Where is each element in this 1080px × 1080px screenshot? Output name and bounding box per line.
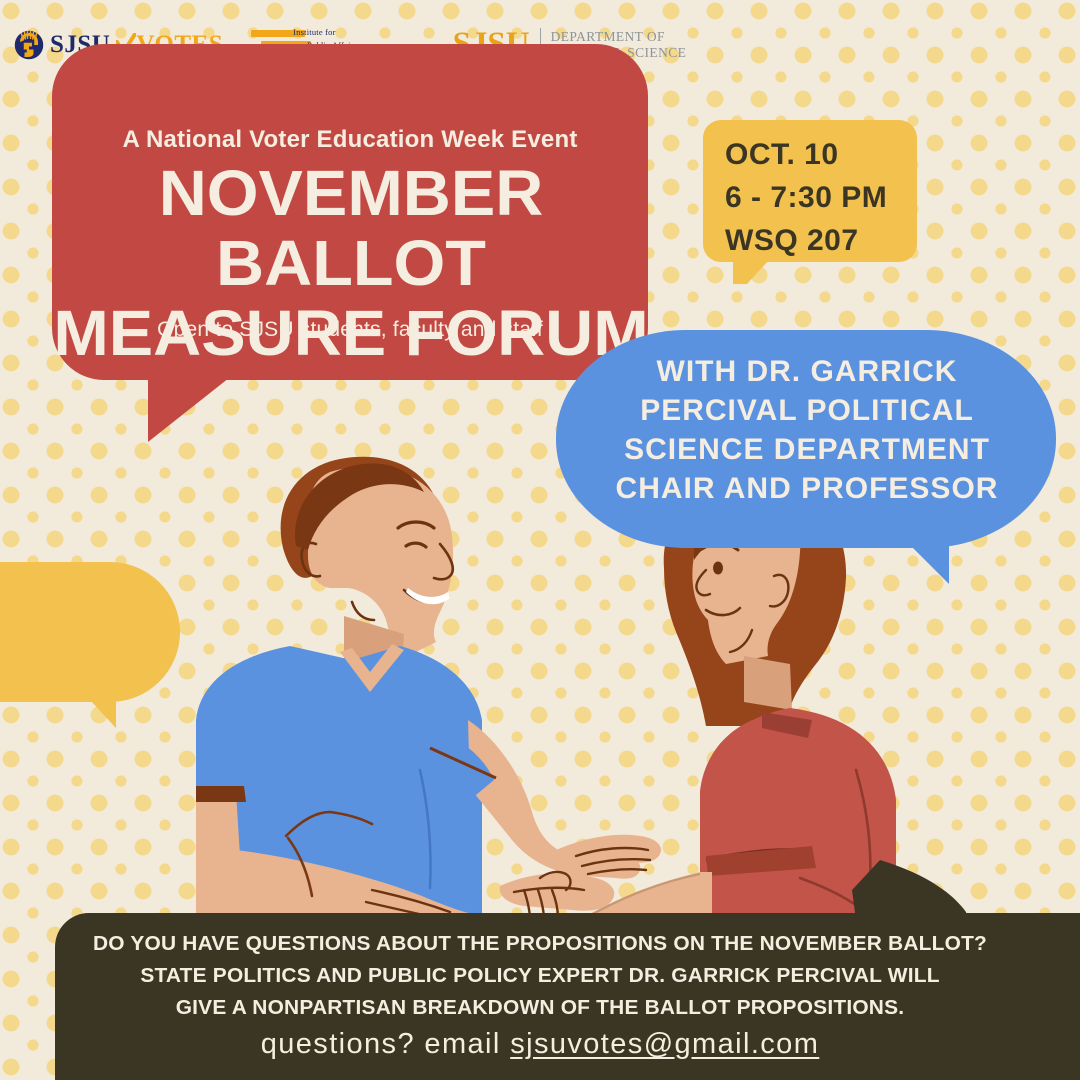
contact-prefix: questions? email xyxy=(261,1028,511,1060)
banner-line-3: GIVE A NONPARTISAN BREAKDOWN OF THE BALL… xyxy=(45,992,1034,1024)
ipace-line-1: Institute for xyxy=(293,27,404,37)
poster-root: SJSU VOTES Institute for Public Affairs … xyxy=(0,0,1080,1080)
contact-line: questions? email sjsuvotes@gmail.com xyxy=(55,1028,1025,1061)
speaker-line-1: WITH DR. GARRICK xyxy=(572,352,1042,391)
banner-line-1: DO YOU HAVE QUESTIONS ABOUT THE PROPOSIT… xyxy=(45,928,1034,960)
banner-description: DO YOU HAVE QUESTIONS ABOUT THE PROPOSIT… xyxy=(45,928,1034,1024)
audience-subline: Open to SJSU students, faculty and staff xyxy=(52,318,648,342)
contact-email-link[interactable]: sjsuvotes@gmail.com xyxy=(510,1028,819,1060)
banner-line-2: STATE POLITICS AND PUBLIC POLICY EXPERT … xyxy=(45,960,1034,992)
spartan-helmet-icon xyxy=(14,30,44,60)
event-time: 6 - 7:30 PM xyxy=(725,176,915,219)
speaker-line-3: SCIENCE DEPARTMENT xyxy=(572,430,1042,469)
speaker-text: WITH DR. GARRICK PERCIVAL POLITICAL SCIE… xyxy=(572,352,1042,508)
event-date: OCT. 10 xyxy=(725,133,915,176)
speaker-line-2: PERCIVAL POLITICAL xyxy=(572,391,1042,430)
event-eyebrow: A National Voter Education Week Event xyxy=(52,126,648,154)
date-bubble-tail xyxy=(733,260,769,284)
event-location: WSQ 207 xyxy=(725,219,915,262)
dept-line-1: DEPARTMENT OF xyxy=(551,29,665,44)
speaker-line-4: CHAIR AND PROFESSOR xyxy=(572,469,1042,508)
event-details-text: OCT. 10 6 - 7:30 PM WSQ 207 xyxy=(725,133,915,262)
title-line-1: NOVEMBER BALLOT xyxy=(34,158,668,298)
